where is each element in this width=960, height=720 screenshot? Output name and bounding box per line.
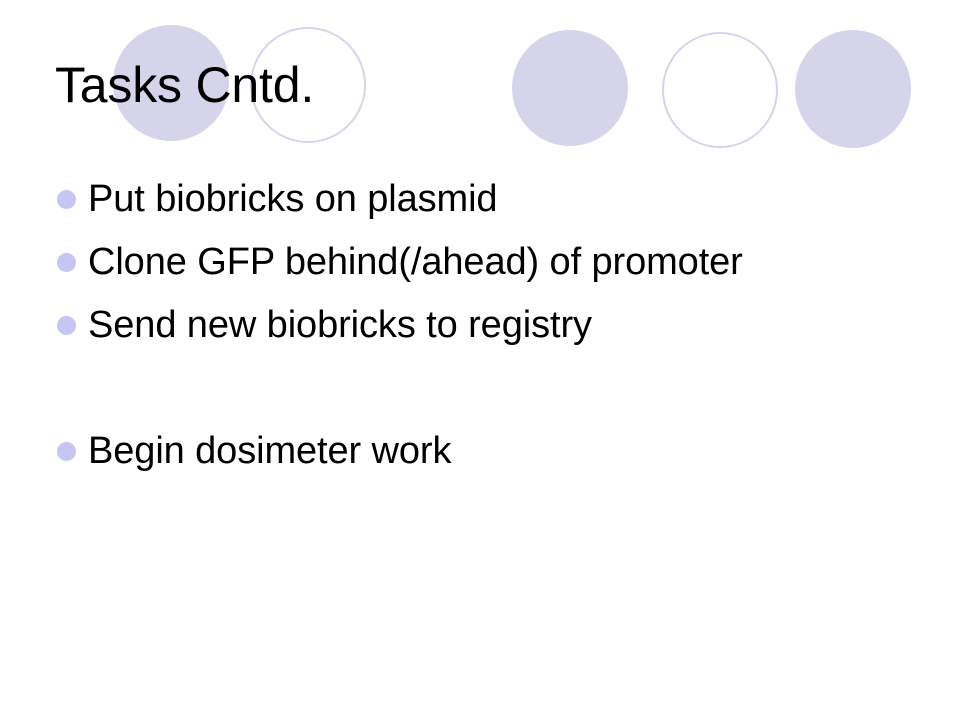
bullet-item-label: Begin dosimeter work (88, 428, 937, 474)
slide-title: Tasks Cntd. (55, 55, 915, 115)
bullet-marker-icon (57, 442, 76, 461)
bullet-item-label: Send new biobricks to registry (88, 302, 937, 348)
slide-body-bullet-list: Put biobricks on plasmid Clone GFP behin… (57, 176, 937, 491)
bullet-marker-icon (57, 190, 76, 209)
presentation-slide: Tasks Cntd. Put biobricks on plasmid Clo… (0, 0, 960, 720)
bullet-marker-icon (57, 253, 76, 272)
bullet-item-5: Begin dosimeter work (57, 428, 937, 491)
bullet-item-blank (57, 365, 937, 428)
bullet-item-3: Send new biobricks to registry (57, 302, 937, 365)
bullet-item-label: Put biobricks on plasmid (88, 176, 937, 222)
bullet-item-1: Put biobricks on plasmid (57, 176, 937, 239)
bullet-item-label: Clone GFP behind(/ahead) of promoter (88, 239, 937, 285)
bullet-marker-icon (57, 316, 76, 335)
bullet-item-2: Clone GFP behind(/ahead) of promoter (57, 239, 937, 302)
